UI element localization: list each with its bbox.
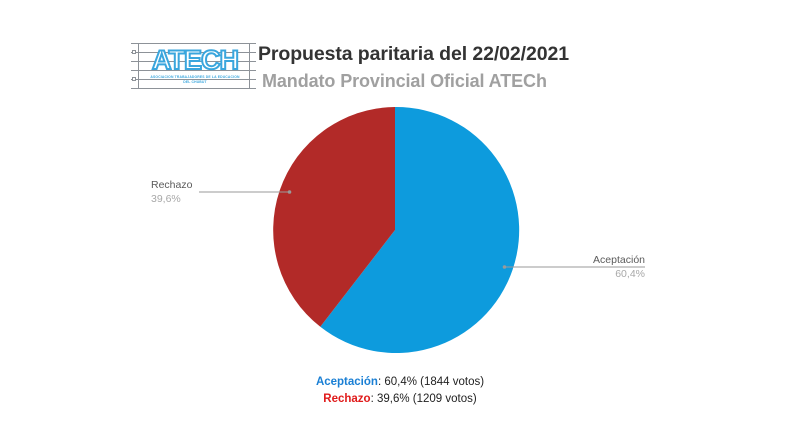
callout-rechazo-percent: 39,6% [151, 192, 192, 206]
legend-key-aceptacion: Aceptación [316, 376, 378, 388]
legend-value-aceptacion: : 60,4% (1844 votos) [378, 376, 484, 388]
pie-chart: Rechazo 39,6% Aceptación 60,4% Aceptació… [0, 0, 800, 445]
leader-dot-rechazo [288, 190, 292, 194]
callout-rechazo: Rechazo 39,6% [151, 178, 192, 206]
callout-aceptacion-percent: 60,4% [593, 267, 645, 281]
chart-legend: Aceptación: 60,4% (1844 votos) Rechazo: … [0, 374, 800, 408]
legend-key-rechazo: Rechazo [323, 393, 370, 405]
leader-dot-aceptacion [503, 265, 507, 269]
callout-rechazo-name: Rechazo [151, 178, 192, 192]
callout-aceptacion: Aceptación 60,4% [593, 253, 645, 281]
callout-aceptacion-name: Aceptación [593, 253, 645, 267]
legend-value-rechazo: : 39,6% (1209 votos) [371, 393, 477, 405]
legend-item-aceptacion: Aceptación: 60,4% (1844 votos) [0, 374, 800, 391]
legend-item-rechazo: Rechazo: 39,6% (1209 votos) [0, 391, 800, 408]
